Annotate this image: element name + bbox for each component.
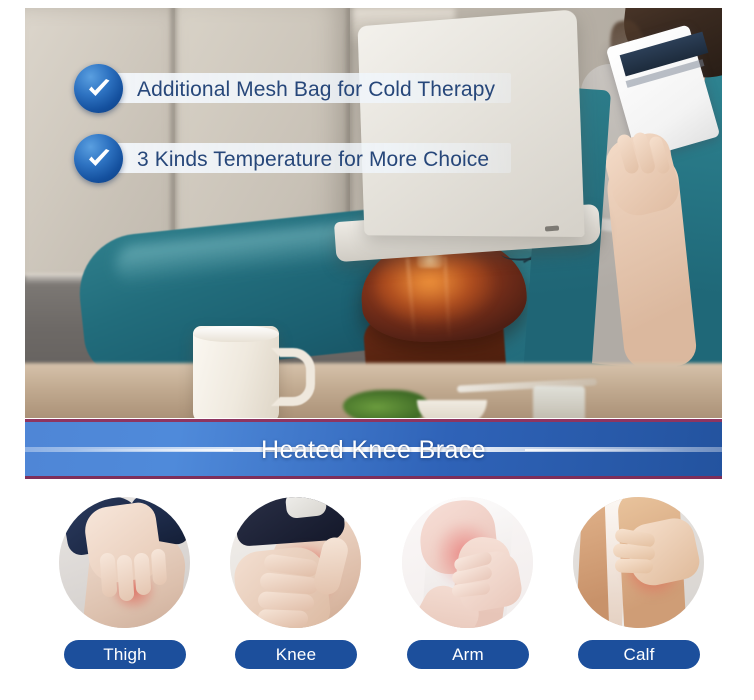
use-case-row: Thigh Knee — [25, 490, 722, 690]
use-case-label-calf[interactable]: Calf — [578, 640, 700, 669]
use-case-label-knee[interactable]: Knee — [235, 640, 357, 669]
use-case-label-thigh[interactable]: Thigh — [64, 640, 186, 669]
hero-lifestyle-photo: Additional Mesh Bag for Cold Therapy 3 K… — [25, 8, 722, 418]
product-marketing-page: Additional Mesh Bag for Cold Therapy 3 K… — [0, 0, 754, 700]
thigh-pain-photo — [59, 497, 190, 628]
knee-pain-photo — [230, 497, 361, 628]
check-circle-icon — [74, 134, 123, 183]
laptop-port — [545, 226, 559, 232]
check-circle-icon — [74, 64, 123, 113]
laptop-screen — [358, 9, 585, 237]
table-plant — [343, 390, 427, 418]
feature-text-1: Additional Mesh Bag for Cold Therapy — [137, 78, 557, 102]
feature-text-2: 3 Kinds Temperature for More Choice — [137, 148, 557, 172]
product-title-banner: Heated Knee Brace — [25, 419, 722, 479]
arm-pain-photo — [402, 497, 533, 628]
coffee-mug-rim — [193, 326, 279, 342]
coffee-mug-handle — [271, 348, 315, 406]
table-glass — [533, 386, 585, 418]
calf-pain-photo — [573, 497, 704, 628]
page-title: Heated Knee Brace — [25, 436, 722, 465]
use-case-label-arm[interactable]: Arm — [407, 640, 529, 669]
table-bowl — [417, 400, 487, 418]
